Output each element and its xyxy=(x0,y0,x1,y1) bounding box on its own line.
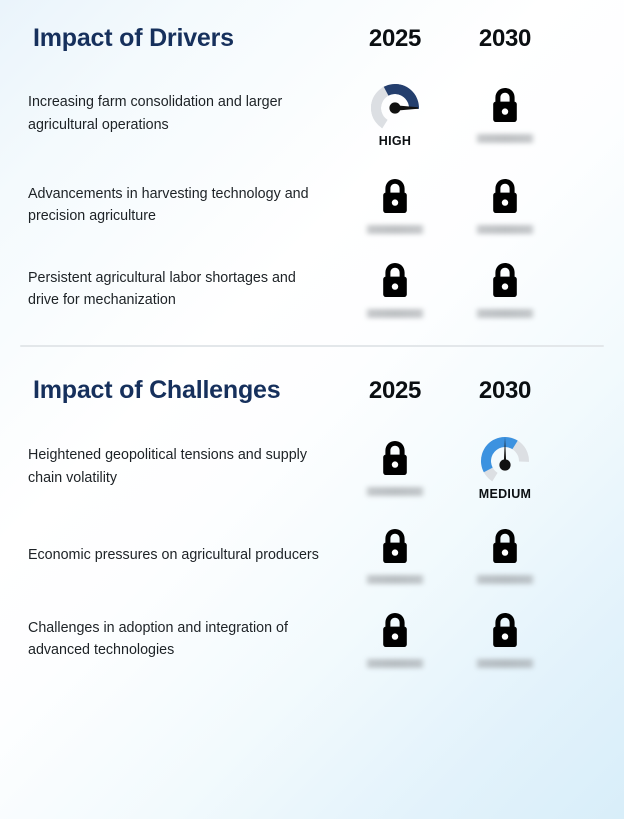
redacted-label xyxy=(365,575,425,584)
redacted-label xyxy=(365,225,425,234)
section-impact-of-challenges: Impact of Challenges 2025 2030 Heightene… xyxy=(0,376,624,668)
table-row[interactable]: Economic pressures on agricultural produ… xyxy=(0,526,624,584)
cell-2030[interactable] xyxy=(450,526,560,584)
table-row[interactable]: Challenges in adoption and integration o… xyxy=(0,610,624,668)
lock-icon xyxy=(488,85,522,125)
redacted-label xyxy=(475,659,535,668)
cell-2030[interactable] xyxy=(450,176,560,234)
row-label: Increasing farm consolidation and larger… xyxy=(0,91,340,136)
page-title-challenges: Impact of Challenges xyxy=(33,376,280,404)
locked-value[interactable] xyxy=(365,610,425,668)
redacted-label xyxy=(365,309,425,318)
locked-value[interactable] xyxy=(365,438,425,496)
locked-value[interactable] xyxy=(475,260,535,318)
gauge-level-label: MEDIUM xyxy=(479,487,532,501)
impact-matrix-page: Impact of Drivers 2025 2030 Increasing f… xyxy=(0,24,624,819)
row-label: Challenges in adoption and integration o… xyxy=(0,617,340,662)
row-label: Persistent agricultural labor shortages … xyxy=(0,267,340,312)
row-label: Advancements in harvesting technology an… xyxy=(0,183,340,228)
locked-value[interactable] xyxy=(365,176,425,234)
column-header-2025-drivers: 2025 xyxy=(340,25,450,53)
redacted-label xyxy=(475,134,535,143)
lock-icon xyxy=(378,438,412,478)
section-divider xyxy=(20,345,604,347)
table-row[interactable]: Persistent agricultural labor shortages … xyxy=(0,260,624,318)
cell-2030[interactable] xyxy=(450,260,560,318)
lock-icon xyxy=(378,610,412,650)
table-row[interactable]: Advancements in harvesting technology an… xyxy=(0,176,624,234)
page-title-drivers: Impact of Drivers xyxy=(33,24,234,52)
redacted-label xyxy=(365,659,425,668)
lock-icon xyxy=(488,176,522,216)
locked-value[interactable] xyxy=(475,610,535,668)
section-header-drivers: Impact of Drivers 2025 2030 xyxy=(0,24,624,53)
cell-2025[interactable] xyxy=(340,526,450,584)
column-header-2030-drivers: 2030 xyxy=(450,25,560,53)
cell-2025[interactable] xyxy=(340,176,450,234)
cell-2030[interactable] xyxy=(450,610,560,668)
table-row[interactable]: Heightened geopolitical tensions and sup… xyxy=(0,432,624,501)
locked-value[interactable] xyxy=(365,526,425,584)
gauge-icon xyxy=(476,432,534,482)
lock-icon xyxy=(488,610,522,650)
column-header-2025-challenges: 2025 xyxy=(340,377,450,405)
section-title-cell: Impact of Challenges xyxy=(0,376,340,405)
gauge-high: HIGH xyxy=(366,79,424,148)
locked-value[interactable] xyxy=(475,526,535,584)
redacted-label xyxy=(365,487,425,496)
cell-2030[interactable] xyxy=(450,85,560,143)
table-row[interactable]: Increasing farm consolidation and larger… xyxy=(0,79,624,148)
cell-2025[interactable] xyxy=(340,438,450,496)
lock-icon xyxy=(378,260,412,300)
lock-icon xyxy=(488,260,522,300)
lock-icon xyxy=(378,176,412,216)
redacted-label xyxy=(475,309,535,318)
locked-value[interactable] xyxy=(475,85,535,143)
section-title-cell: Impact of Drivers xyxy=(0,24,340,53)
lock-icon xyxy=(488,526,522,566)
gauge-medium: MEDIUM xyxy=(476,432,534,501)
section-header-challenges: Impact of Challenges 2025 2030 xyxy=(0,376,624,405)
lock-icon xyxy=(378,526,412,566)
locked-value[interactable] xyxy=(365,260,425,318)
redacted-label xyxy=(475,225,535,234)
redacted-label xyxy=(475,575,535,584)
cell-2025[interactable] xyxy=(340,260,450,318)
column-header-2030-challenges: 2030 xyxy=(450,377,560,405)
gauge-level-label: HIGH xyxy=(379,134,411,148)
cell-2025[interactable] xyxy=(340,610,450,668)
row-label: Heightened geopolitical tensions and sup… xyxy=(0,444,340,489)
row-label: Economic pressures on agricultural produ… xyxy=(0,544,340,567)
section-impact-of-drivers: Impact of Drivers 2025 2030 Increasing f… xyxy=(0,24,624,318)
cell-2030[interactable]: MEDIUM xyxy=(450,432,560,501)
gauge-icon xyxy=(366,79,424,129)
cell-2025[interactable]: HIGH xyxy=(340,79,450,148)
locked-value[interactable] xyxy=(475,176,535,234)
